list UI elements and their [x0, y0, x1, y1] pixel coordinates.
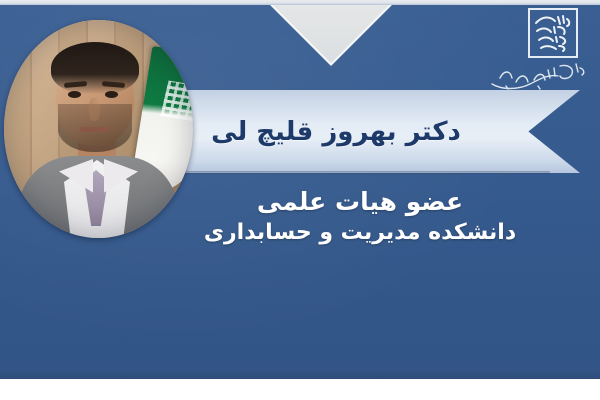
ribbon-shadow: [150, 171, 550, 175]
role-line: عضو هیات علمی: [150, 186, 570, 217]
subtitle-block: عضو هیات علمی دانشکده مدیریت و حسابداری: [150, 186, 570, 248]
person-name: دکتر بهروز قلیچ لی: [150, 90, 580, 173]
shahid-beheshti-university-logo-icon: [528, 8, 578, 58]
university-logo: [486, 6, 590, 96]
avatar: [4, 20, 193, 238]
public-relations-calligraphy-icon: [488, 56, 588, 94]
portrait-vignette: [4, 20, 193, 238]
department-line: دانشکده مدیریت و حسابداری: [150, 219, 570, 248]
top-strip: [0, 0, 600, 5]
name-ribbon: دکتر بهروز قلیچ لی: [150, 90, 580, 173]
profile-card: دکتر بهروز قلیچ لی: [0, 0, 600, 400]
